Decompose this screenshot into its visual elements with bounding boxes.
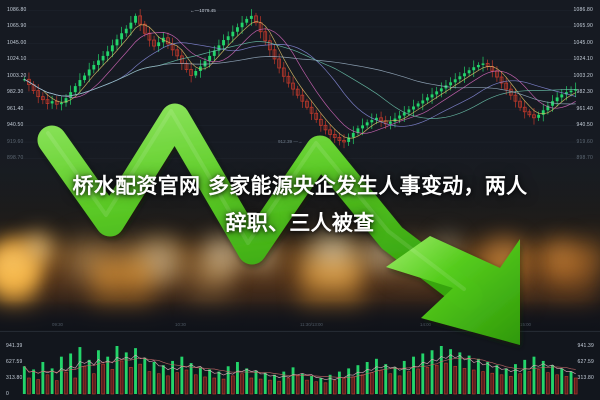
news-banner-image: 1086.801065.901045.001024.101003.20982.3…	[0, 0, 600, 400]
headline-text: 桥水配资官网 多家能源央企发生人事变动，两人 辞职、三人被查	[0, 168, 600, 242]
headline-line-2: 辞职、三人被查	[18, 205, 582, 242]
headline-line-1: 桥水配资官网 多家能源央企发生人事变动，两人	[18, 168, 582, 205]
